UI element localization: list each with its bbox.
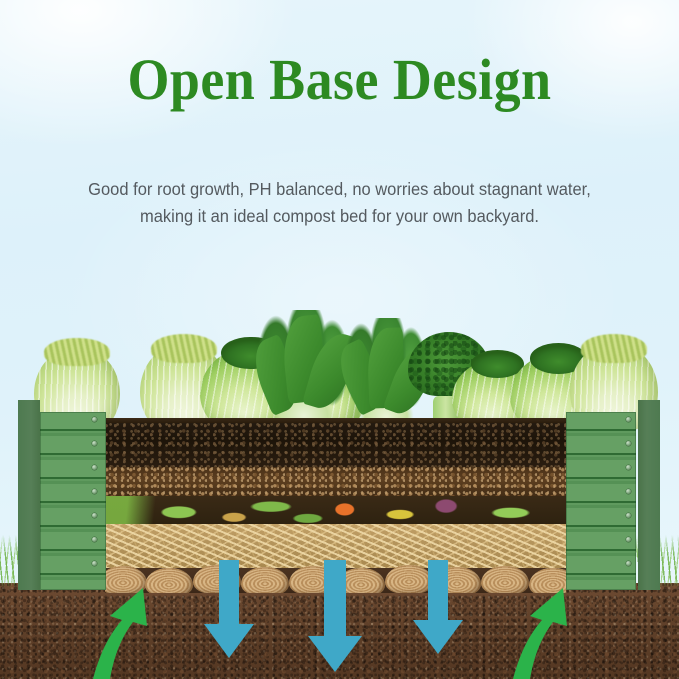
screw-icon <box>92 537 97 542</box>
screw-icon <box>92 489 97 494</box>
right-corner-post <box>566 400 660 590</box>
airflow-up-left-arrow <box>93 588 147 679</box>
drainage-down-2-arrow <box>308 560 362 672</box>
product-feature-graphic: Open Base Design Good for root growth, P… <box>0 0 679 679</box>
screw-icon <box>92 513 97 518</box>
screw-icon <box>626 441 631 446</box>
right-post-front-panels <box>566 412 636 590</box>
drainage-down-3-arrow <box>413 560 463 654</box>
layer-compost-soil <box>105 467 566 496</box>
screw-icon <box>626 537 631 542</box>
screw-icon <box>92 417 97 422</box>
page-title: Open Base Design <box>24 48 655 112</box>
left-post-side-face <box>18 400 40 590</box>
screw-icon <box>92 561 97 566</box>
airflow-up-right-arrow <box>513 588 567 679</box>
left-post-front-panels <box>40 412 106 590</box>
screw-icon <box>626 513 631 518</box>
screw-icon <box>626 465 631 470</box>
screw-icon <box>626 489 631 494</box>
right-post-side-face <box>638 400 660 590</box>
left-corner-post <box>18 400 106 590</box>
screw-icon <box>92 441 97 446</box>
page-subtitle: Good for root growth, PH balanced, no wo… <box>33 176 646 230</box>
screw-icon <box>92 465 97 470</box>
layer-topsoil <box>105 423 566 467</box>
subtitle-line-1: Good for root growth, PH balanced, no wo… <box>88 179 591 199</box>
screw-icon <box>626 417 631 422</box>
drainage-down-1-arrow <box>204 560 254 658</box>
subtitle-line-2: making it an ideal compost bed for your … <box>140 206 539 226</box>
layer-food-scraps <box>105 496 566 524</box>
screw-icon <box>626 561 631 566</box>
